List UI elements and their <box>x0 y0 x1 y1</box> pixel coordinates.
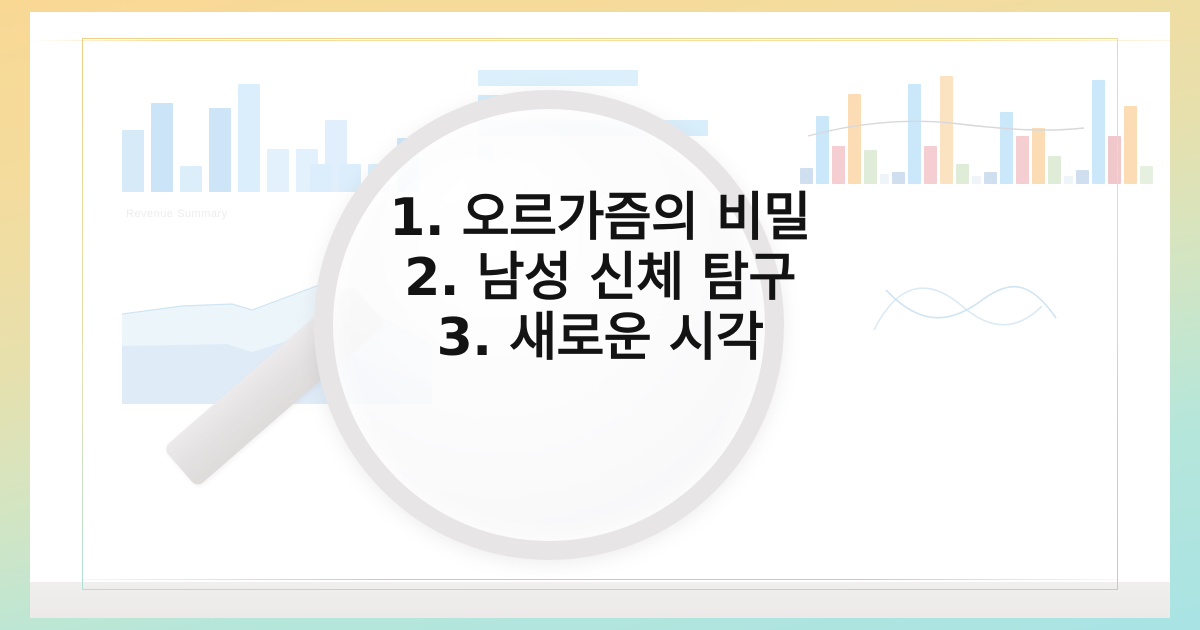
headline-block: 1. 오르가즘의 비밀 2. 남성 신체 탐구 3. 새로운 시각 <box>30 12 1170 618</box>
headline-line-3: 3. 새로운 시각 <box>437 308 764 368</box>
headline-line-1: 1. 오르가즘의 비밀 <box>389 188 811 248</box>
headline-line-2: 2. 남성 신체 탐구 <box>404 248 796 308</box>
poster-canvas: Revenue Summary Market Share Chart <box>0 0 1200 630</box>
content-card: Revenue Summary Market Share Chart <box>30 12 1170 618</box>
